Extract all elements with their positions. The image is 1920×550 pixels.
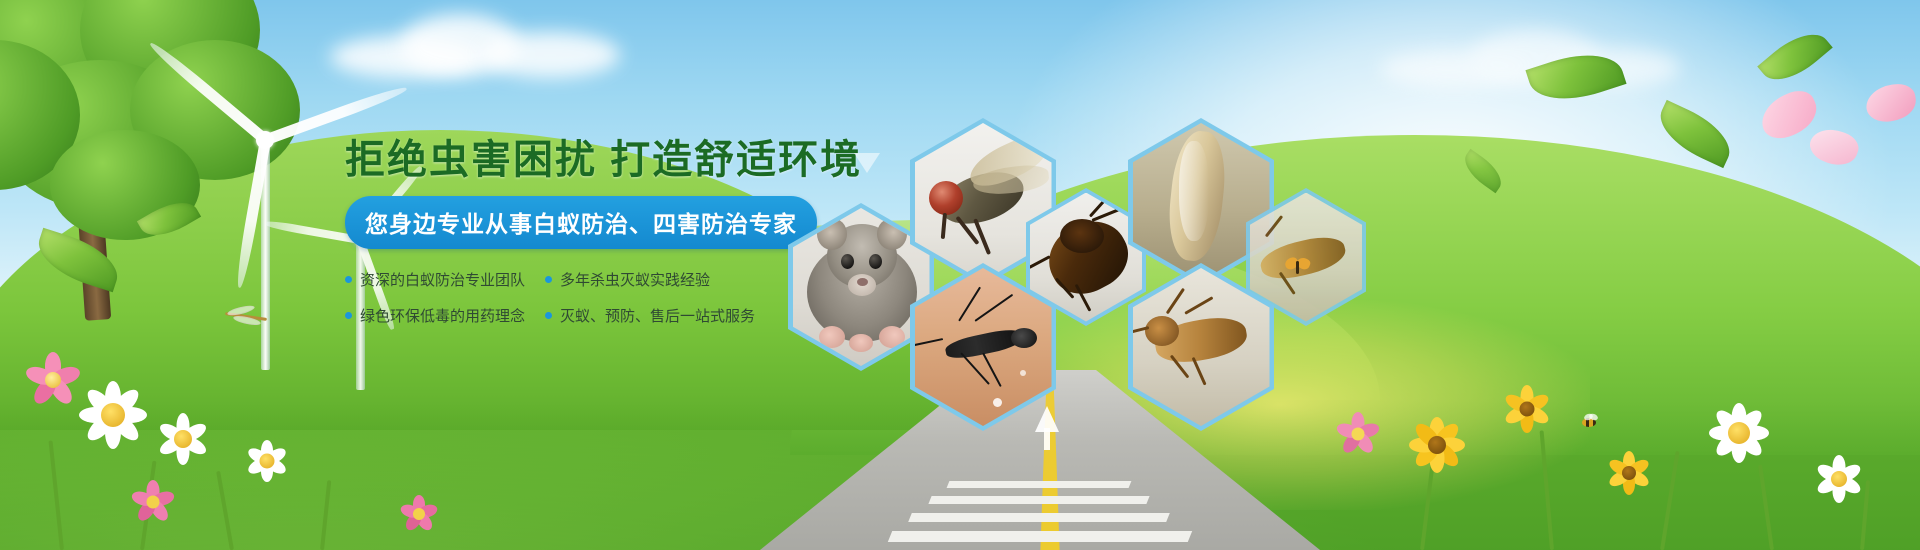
cockroach-photo (1030, 193, 1142, 322)
hex-pointer-icon (854, 153, 880, 173)
bullet-dot-icon (545, 312, 552, 319)
road-arrow-stem (1044, 428, 1050, 450)
pink-flower-icon (1330, 406, 1386, 462)
list-item: 绿色环保低毒的用药理念 (345, 305, 545, 326)
rat-photo (793, 208, 930, 366)
leaf-icon (1651, 100, 1740, 168)
list-item: 资深的白蚁防治专业团队 (345, 269, 545, 290)
termite-photo (1250, 193, 1362, 322)
rat-ear-icon (877, 218, 907, 250)
rat-eye-icon (869, 254, 882, 269)
daisy-flower-icon (1808, 448, 1870, 510)
bullet-label: 多年杀虫灭蚁实践经验 (560, 269, 710, 290)
turbine-hub (256, 131, 274, 149)
page-title: 拒绝虫害困扰 打造舒适环境 (345, 138, 805, 182)
blossom-petal-icon (1864, 82, 1919, 125)
pink-flower-icon (125, 474, 181, 530)
blossom-petal-icon (1806, 123, 1863, 171)
butterfly-icon (1285, 258, 1311, 276)
flower-cluster-right (1300, 340, 1920, 550)
rat-ear-icon (817, 218, 847, 250)
pink-flower-icon (18, 345, 88, 415)
yellow-flower-icon (1600, 444, 1658, 502)
yellow-flower-icon (1496, 378, 1558, 440)
leaf-icon (1525, 42, 1626, 112)
bullet-label: 灭蚁、预防、售后一站式服务 (560, 305, 755, 326)
bullet-label: 绿色环保低毒的用药理念 (360, 305, 525, 326)
bullet-dot-icon (545, 276, 552, 283)
feature-bullet-list: 资深的白蚁防治专业团队 多年杀虫灭蚁实践经验 绿色环保低毒的用药理念 灭蚁、预防… (345, 269, 805, 326)
daisy-flower-icon (1700, 394, 1778, 472)
cloud-icon (330, 10, 630, 80)
sparkle-icon (993, 398, 1002, 407)
hero-copy-block: 拒绝虫害困扰 打造舒适环境 您身边专业从事白蚁防治、四害防治专家 资深的白蚁防治… (345, 138, 805, 326)
bee-icon (1578, 414, 1600, 428)
daisy-flower-icon (240, 434, 294, 488)
flower-cluster-left (0, 350, 430, 550)
leaf-icon (1757, 21, 1832, 92)
bullet-dot-icon (345, 276, 352, 283)
bullet-label: 资深的白蚁防治专业团队 (360, 269, 525, 290)
rat-eye-icon (841, 254, 854, 269)
daisy-flower-icon (150, 406, 216, 472)
list-item: 多年杀虫灭蚁实践经验 (545, 269, 760, 290)
pink-flower-icon (395, 490, 443, 538)
list-item: 灭蚁、预防、售后一站式服务 (545, 305, 760, 326)
tagline-pill: 您身边专业从事白蚁防治、四害防治专家 (345, 196, 817, 249)
yellow-flower-icon (1400, 408, 1474, 482)
fly-eye-icon (929, 181, 963, 215)
sparkle-icon (1020, 370, 1026, 376)
dragonfly-icon (215, 305, 275, 327)
pest-control-hero-banner: 拒绝虫害困扰 打造舒适环境 您身边专业从事白蚁防治、四害防治专家 资深的白蚁防治… (0, 0, 1920, 550)
bullet-dot-icon (345, 312, 352, 319)
